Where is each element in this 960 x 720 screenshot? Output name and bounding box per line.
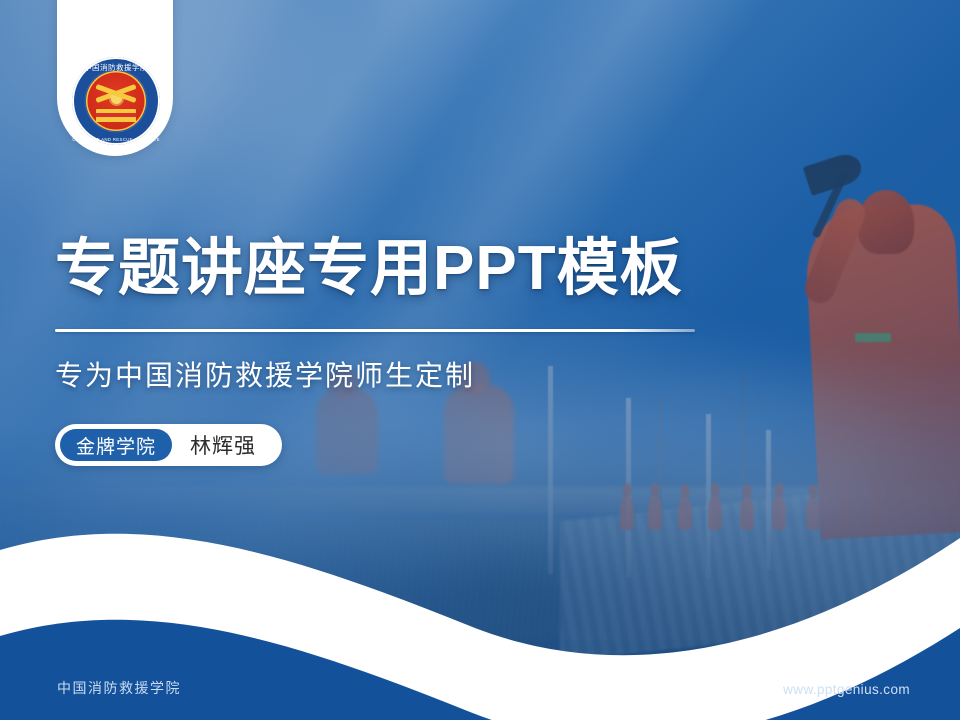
- institute-logo: 中国消防救援学院 CHINA FIRE AND RESCUE INSTITUTE: [72, 57, 160, 145]
- footer-website[interactable]: www.pptgenius.com: [783, 682, 910, 697]
- presenter-name: 林辉强: [190, 430, 256, 460]
- logo-gate-icon: [96, 109, 136, 122]
- logo-core: [86, 71, 146, 131]
- title-divider: [55, 329, 695, 332]
- badge-tag-label: 金牌学院: [60, 429, 172, 461]
- footer-organization: 中国消防救援学院: [57, 678, 181, 698]
- page-subtitle: 专为中国消防救援学院师生定制: [55, 354, 775, 394]
- logo-english-text: CHINA FIRE AND RESCUE INSTITUTE: [72, 137, 160, 142]
- page-title: 专题讲座专用PPT模板: [55, 236, 775, 301]
- logo-star-icon: [111, 93, 122, 104]
- title-block: 专题讲座专用PPT模板 专为中国消防救援学院师生定制 金牌学院 林辉强: [55, 236, 775, 466]
- presenter-badge: 金牌学院 林辉强: [55, 424, 282, 466]
- title-slide: 中国消防救援学院 CHINA FIRE AND RESCUE INSTITUTE…: [0, 0, 960, 720]
